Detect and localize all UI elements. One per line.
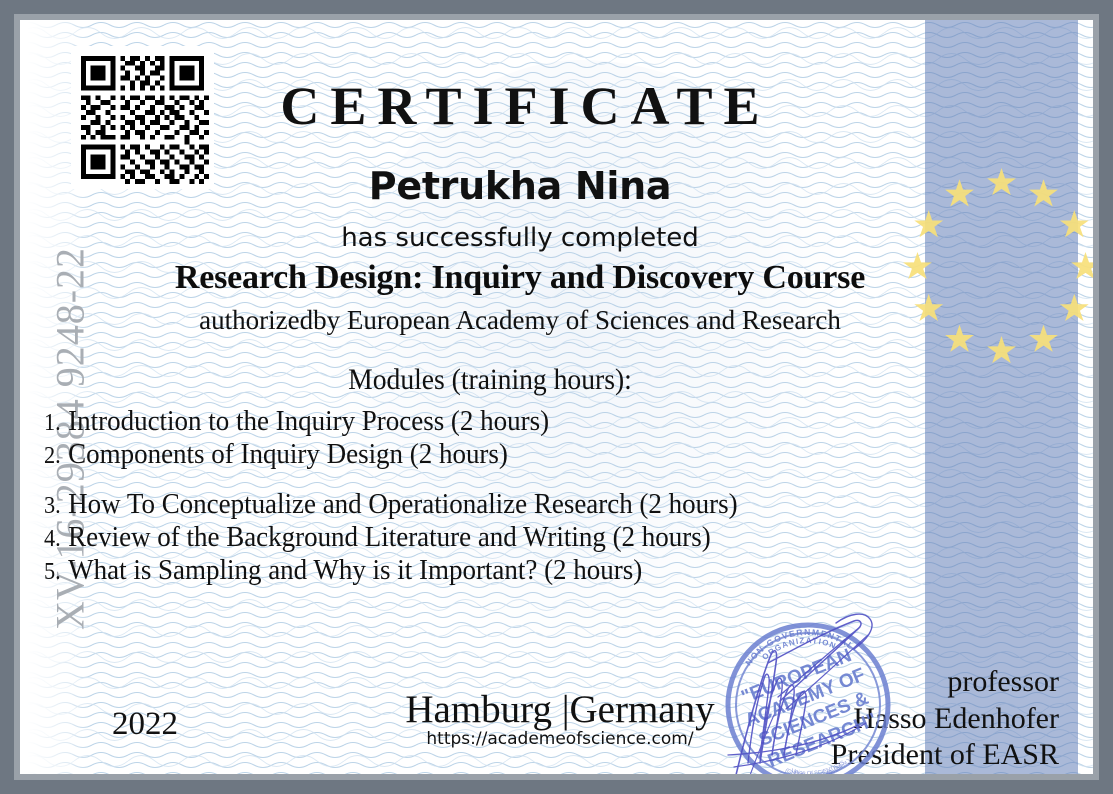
recipient-name: Petrukha Nina [150,164,890,208]
list-item: 3.How To Conceptualize and Operationaliz… [44,488,900,521]
module-label: What is Sampling and Why is it Important… [68,554,642,586]
issue-place: Hamburg |Germany [350,690,770,730]
list-item: 2.Components of Inquiry Design (2 hours) [44,438,900,471]
signatory-title: President of EASR [729,737,1059,774]
module-number: 4. [44,526,68,553]
module-number: 1. [44,410,68,437]
list-item: 1.Introduction to the Inquiry Process (2… [44,405,900,438]
module-label: Components of Inquiry Design (2 hours) [68,438,508,470]
signatory-role: professor [729,664,1059,701]
certificate-content: CERTIFICATE Petrukha Nina has successful… [20,20,1093,774]
module-number: 5. [44,559,68,586]
certificate-document: XV-16-29384 9248-22 CERTIFICATE Petrukha… [0,0,1113,794]
module-label: Review of the Background Literature and … [68,521,711,553]
list-item: 4.Review of the Background Literature an… [44,521,900,554]
modules-list: 1.Introduction to the Inquiry Process (2… [44,405,964,587]
certificate-paper: XV-16-29384 9248-22 CERTIFICATE Petrukha… [20,20,1093,774]
module-label: Introduction to the Inquiry Process (2 h… [68,405,549,437]
signatory-block: professor Hasso Edenhofer President of E… [729,664,1059,774]
list-item: 5.What is Sampling and Why is it Importa… [44,554,900,587]
module-number: 3. [44,493,68,520]
signatory-name: Hasso Edenhofer [729,701,1059,738]
modules-heading: Modules (training hours): [76,363,904,397]
issue-year: 2022 [112,706,178,743]
course-title: Research Design: Inquiry and Discovery C… [40,259,1000,297]
completion-line: has successfully completed [150,223,890,253]
organization-url[interactable]: https://academeofscience.com/ [350,729,770,749]
authorized-by-line: authorizedby European Academy of Science… [40,305,1000,336]
module-label: How To Conceptualize and Operationalize … [68,488,737,520]
page-title: CERTIFICATE [160,75,880,137]
module-number: 2. [44,443,68,470]
issue-place-block: Hamburg |Germany https://academeofscienc… [350,690,770,749]
